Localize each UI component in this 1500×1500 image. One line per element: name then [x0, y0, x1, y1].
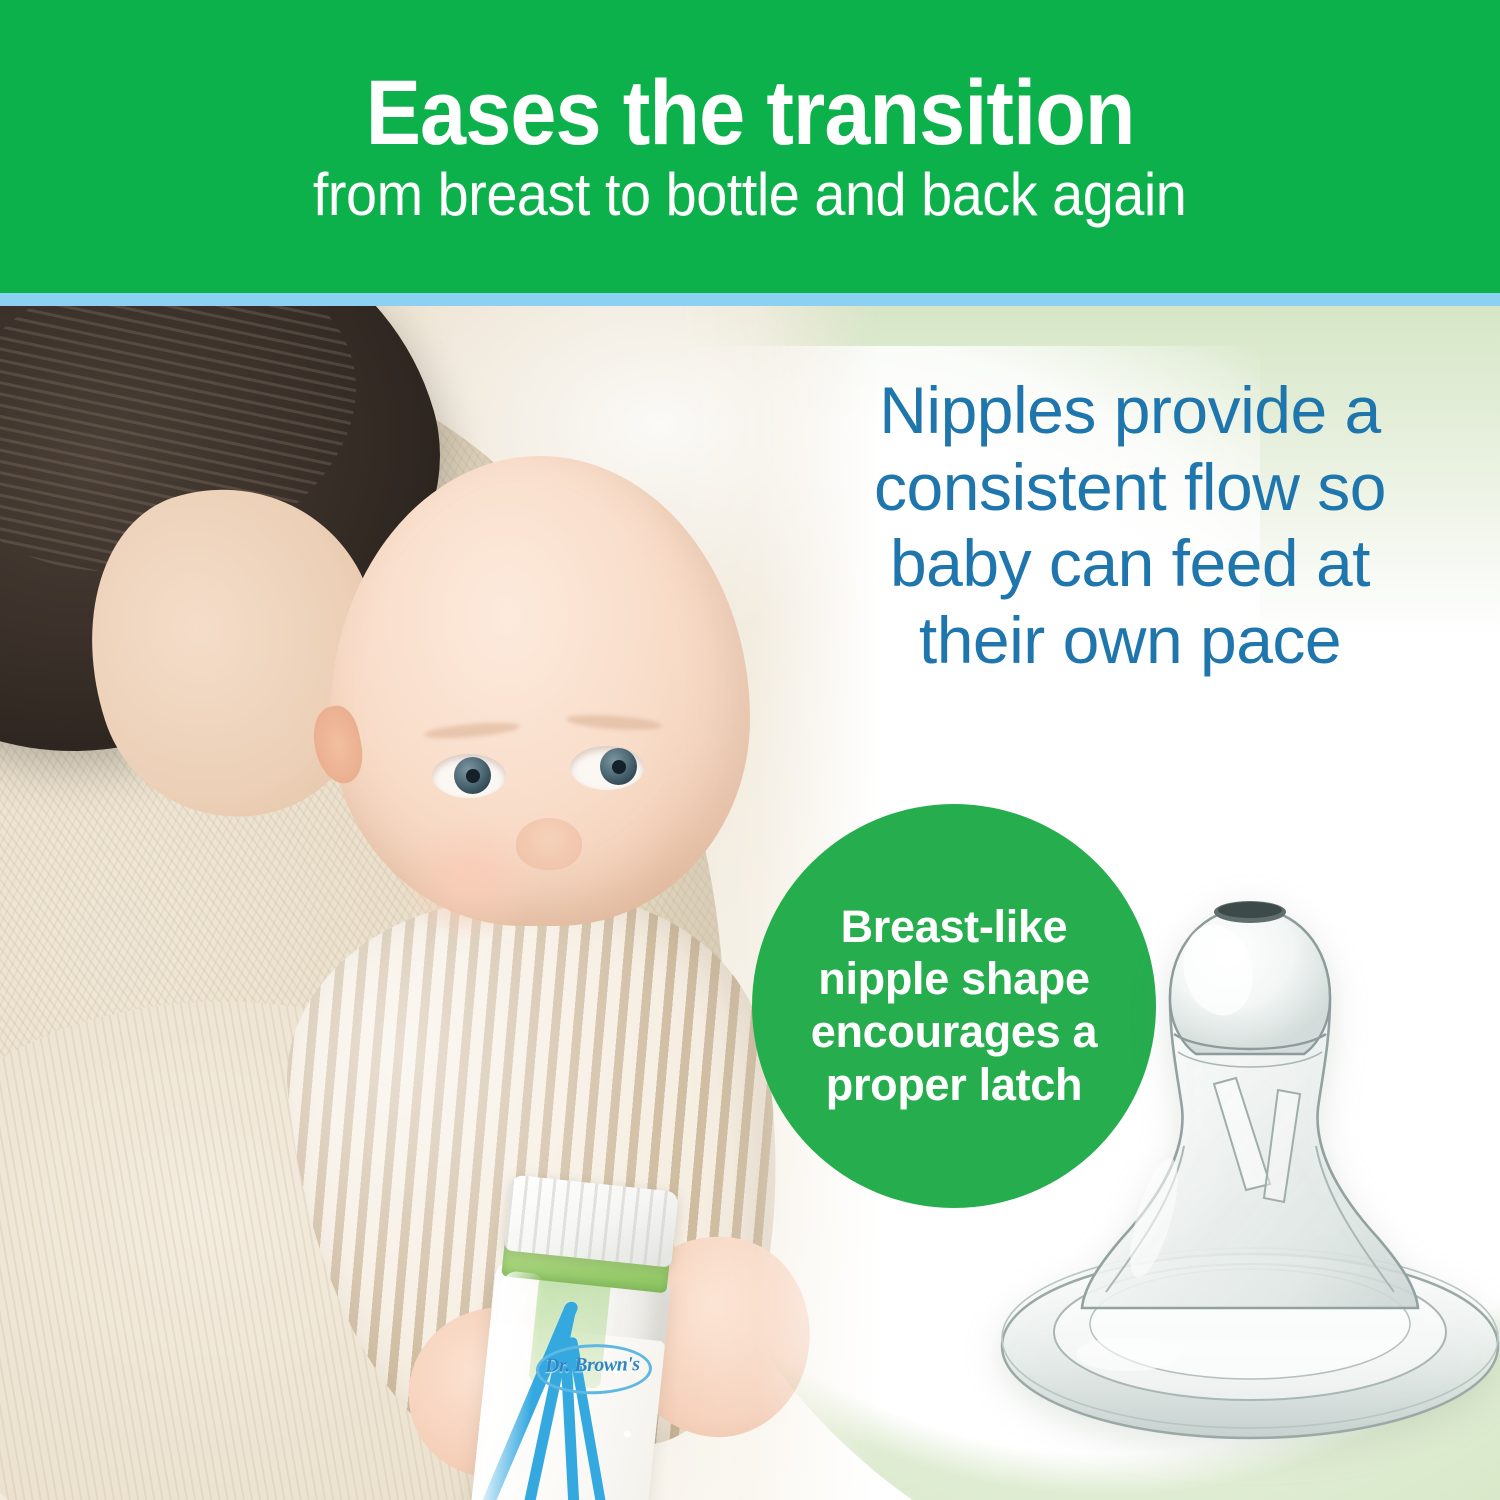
bottle-nipple-product [978, 846, 1500, 1476]
blue-divider-rule [0, 293, 1500, 306]
marketing-banner: Eases the transition from breast to bott… [0, 0, 1500, 1500]
content-stage: Dr. Brown's Nipples provide a consistent… [0, 306, 1500, 1500]
bottle-brand-text: Dr. Brown's [544, 1353, 640, 1378]
baby-pupil-right [612, 760, 626, 774]
subheadline: from breast to bottle and back again [313, 163, 1187, 226]
baby-pupil-left [466, 769, 480, 783]
feature-copy-line-2: consistent flow so [806, 449, 1454, 526]
feature-copy-line-3: baby can feed at [806, 525, 1454, 602]
baby-nose [516, 818, 582, 870]
feature-copy: Nipples provide a consistent flow so bab… [806, 372, 1454, 678]
headline: Eases the transition [366, 67, 1135, 159]
feature-copy-line-4: their own pace [806, 602, 1454, 679]
feature-copy-line-1: Nipples provide a [806, 372, 1454, 449]
header-band: Eases the transition from breast to bott… [0, 0, 1500, 293]
lifestyle-photo: Dr. Brown's [0, 306, 880, 1500]
